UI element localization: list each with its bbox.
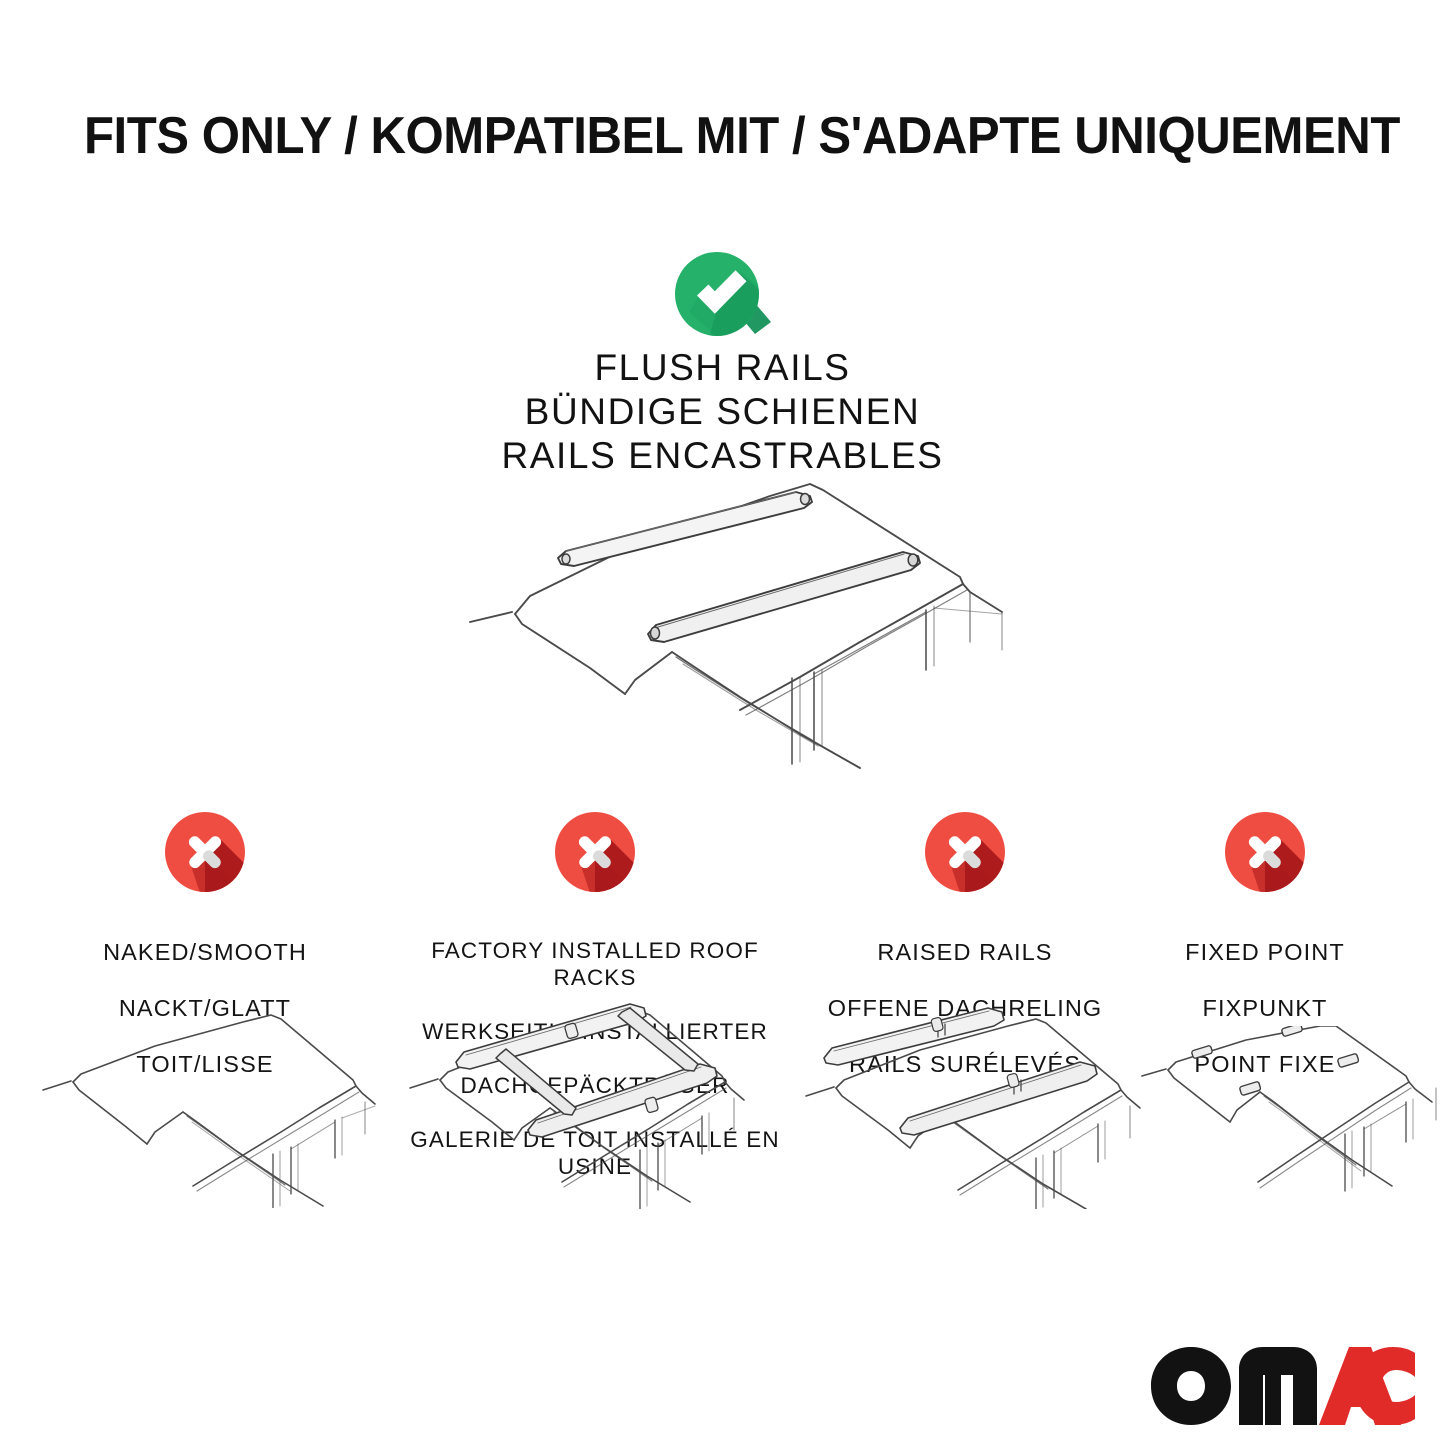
car-roof-factory-crossbars-illustration bbox=[400, 994, 750, 1209]
omac-logo-mark bbox=[1147, 1345, 1415, 1427]
x-circle-icon bbox=[1221, 808, 1309, 896]
omac-logo-letter-o bbox=[1151, 1347, 1231, 1425]
car-roof-bare-smooth-illustration bbox=[35, 1008, 380, 1208]
incompatible-label-en: RAISED RAILS bbox=[800, 938, 1130, 966]
incompatible-item-factory-roof-racks: FACTORY INSTALLED ROOF RACKS WERKSEITIG … bbox=[398, 808, 792, 1207]
check-circle-badge bbox=[667, 250, 779, 338]
incompatible-item-raised-rails: RAISED RAILS OFFENE DACHRELING RAILS SUR… bbox=[800, 808, 1130, 1106]
x-circle-badge bbox=[1221, 808, 1309, 896]
omac-logo-letter-m bbox=[1239, 1347, 1317, 1425]
check-circle-icon bbox=[667, 250, 779, 338]
incompatible-item-fixed-point: FIXED POINT FIXPUNKT POINT FIXE bbox=[1140, 808, 1390, 1106]
x-circle-icon bbox=[161, 808, 249, 896]
incompatible-label-en: NAKED/SMOOTH bbox=[35, 938, 375, 966]
compatible-labels: FLUSH RAILS BÜNDIGE SCHIENEN RAILS ENCAS… bbox=[0, 346, 1445, 478]
x-circle-badge bbox=[921, 808, 1009, 896]
incompatible-section: NAKED/SMOOTH NACKT/GLATT TOIT/LISSE bbox=[0, 808, 1445, 1268]
compatible-section: FLUSH RAILS BÜNDIGE SCHIENEN RAILS ENCAS… bbox=[0, 250, 1445, 478]
compatible-label-en: FLUSH RAILS bbox=[0, 346, 1445, 390]
compatible-label-de: BÜNDIGE SCHIENEN bbox=[0, 390, 1445, 434]
incompatible-item-naked-smooth: NAKED/SMOOTH NACKT/GLATT TOIT/LISSE bbox=[35, 808, 375, 1106]
x-circle-badge bbox=[551, 808, 639, 896]
car-roof-fixed-points-illustration bbox=[1140, 1026, 1445, 1211]
incompatible-label-de: FIXPUNKT bbox=[1140, 994, 1390, 1022]
incompatible-label-en: FIXED POINT bbox=[1140, 938, 1390, 966]
incompatible-label-en: FACTORY INSTALLED ROOF RACKS bbox=[398, 937, 792, 991]
x-circle-icon bbox=[551, 808, 639, 896]
x-circle-icon bbox=[921, 808, 1009, 896]
car-roof-raised-rails-illustration bbox=[800, 1004, 1145, 1209]
car-roof-flush-rails-illustration bbox=[440, 472, 1020, 772]
omac-logo: OMAC bbox=[1147, 1345, 1415, 1427]
x-circle-badge bbox=[161, 808, 249, 896]
page-title: FITS ONLY / KOMPATIBEL MIT / S'ADAPTE UN… bbox=[84, 108, 1313, 164]
